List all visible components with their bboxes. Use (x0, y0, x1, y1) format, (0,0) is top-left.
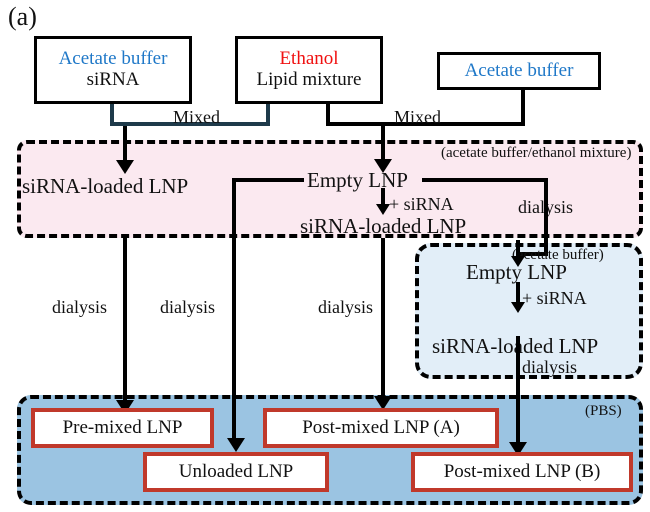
dialysis-label-3: dialysis (318, 298, 373, 316)
arrow-to-sirna-loaded-left-shaft (123, 126, 127, 164)
pink-sirna-loaded-lnp-left: siRNA-loaded LNP (22, 176, 188, 197)
mixed-label-left: Mixed (173, 108, 220, 126)
reagent-box-acetate-sirna[interactable]: Acetate buffer siRNA (34, 36, 192, 104)
result-label: Unloaded LNP (179, 461, 294, 483)
arrow-to-sirna-loaded-left-head (116, 160, 134, 174)
result-label: Pre-mixed LNP (63, 417, 183, 439)
arrow-to-pre-mixed-lnp-shaft (123, 238, 127, 408)
reagent-box-acetate-buffer[interactable]: Acetate buffer (437, 52, 601, 90)
result-box-pre-mixed-lnp[interactable]: Pre-mixed LNP (31, 408, 214, 448)
result-box-post-mixed-lnp-b[interactable]: Post-mixed LNP (B) (411, 452, 633, 492)
arrow-to-post-mixed-a-shaft (381, 238, 385, 404)
reagent-line-secondary: siRNA (87, 70, 140, 91)
blue-plus-sirna: + siRNA (522, 289, 587, 307)
pink-plus-sirna: + siRNA (389, 195, 454, 213)
reagent-line-secondary: Lipid mixture (256, 70, 361, 91)
arrow-blue-empty-to-loaded-head (511, 302, 525, 313)
dialysis-label-1: dialysis (52, 298, 107, 316)
pink-sirna-loaded-lnp-center: siRNA-loaded LNP (300, 216, 466, 237)
pink-empty-lnp: Empty LNP (307, 170, 408, 191)
branch-empty-lnp-right-vertical (544, 178, 548, 256)
reagent-line-primary: Ethanol (279, 49, 338, 70)
panel-label: (a) (8, 2, 37, 32)
arrow-into-blue-empty-lnp-head (511, 256, 525, 267)
figure-canvas: (a) Acetate buffer siRNA Ethanol Lipid m… (0, 0, 650, 512)
branch-empty-lnp-left-vertical (232, 178, 236, 446)
dialysis-label-2: dialysis (160, 298, 215, 316)
arrow-to-post-mixed-b-shaft (516, 336, 520, 450)
arrow-to-empty-lnp-shaft (381, 122, 385, 164)
reagent-box-ethanol-lipid[interactable]: Ethanol Lipid mixture (235, 36, 383, 104)
blue-dialysis-label: dialysis (522, 358, 577, 376)
connector-ethanol-left-down (266, 104, 270, 126)
result-box-post-mixed-lnp-a[interactable]: Post-mixed LNP (A) (263, 408, 499, 448)
region-caption-acetate-ethanol: (acetate buffer/ethanol mixture) (441, 146, 631, 161)
reagent-line-primary: Acetate buffer (59, 49, 168, 70)
reagent-line-primary: Acetate buffer (465, 61, 574, 82)
result-box-unloaded-lnp[interactable]: Unloaded LNP (143, 452, 329, 492)
result-label: Post-mixed LNP (A) (302, 417, 460, 439)
arrow-empty-to-loaded-head (376, 204, 390, 215)
connector-acetate-buffer-down (521, 90, 525, 126)
branch-empty-lnp-left-horizontal (232, 178, 304, 182)
arrow-to-unloaded-lnp-head (227, 438, 245, 452)
branch-empty-lnp-right-horizontal (422, 178, 548, 182)
result-label: Post-mixed LNP (B) (444, 461, 601, 483)
mixed-label-right: Mixed (394, 108, 441, 126)
region-caption-pbs: (PBS) (585, 404, 622, 419)
